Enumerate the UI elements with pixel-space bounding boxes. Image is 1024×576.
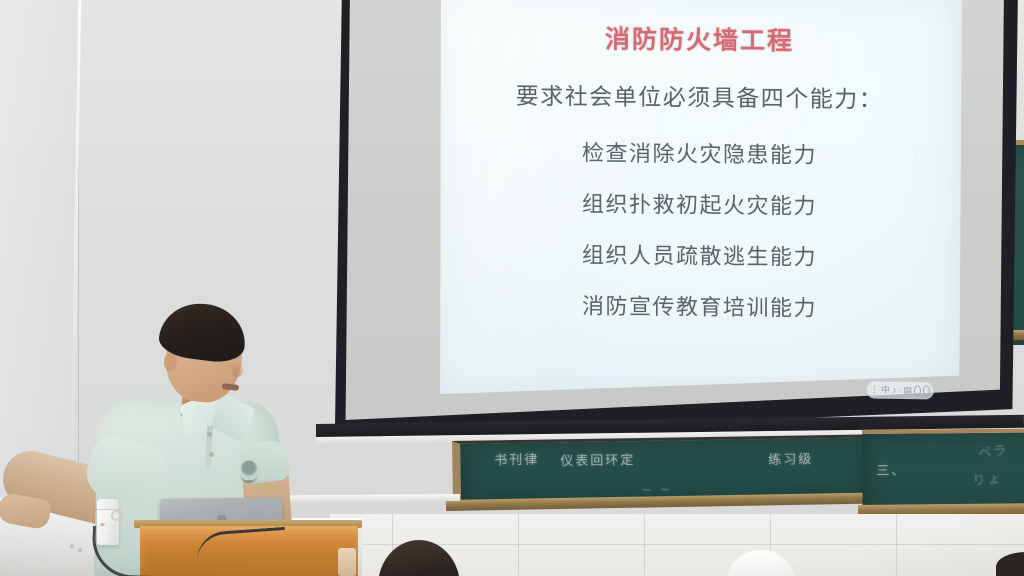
ime-pen-tool-icon[interactable]: ♪ bbox=[892, 385, 897, 394]
ime-toolbar[interactable]: ⋮ 中 ♪ · ▤ bbox=[866, 380, 934, 399]
chalk-note: 仪表回环定 bbox=[560, 449, 635, 469]
chalk-note: 练习级 bbox=[768, 448, 813, 468]
slide-bullet: 消防宣传教育培训能力 bbox=[437, 287, 962, 324]
ime-language-mode-icon[interactable]: 中 bbox=[881, 385, 890, 394]
slide-title: 消防防火墙工程 bbox=[437, 18, 962, 59]
shirt-chest-logo bbox=[240, 460, 258, 483]
foreground-object bbox=[338, 548, 356, 576]
slide-content: 消防防火墙工程 要求社会单位必须具备四个能力： 检查消除火灾隐患能力 组织扑救初… bbox=[437, 0, 962, 399]
shirt-button bbox=[209, 452, 214, 457]
chalk-note: 三、 bbox=[876, 460, 906, 479]
thermos-loop bbox=[111, 510, 122, 521]
ime-handle-icon[interactable]: ⋮ bbox=[870, 385, 879, 394]
thermos-cap bbox=[97, 499, 119, 510]
chalk-smudge: りょ bbox=[972, 468, 1003, 489]
presenter-nose bbox=[232, 362, 243, 377]
ime-soft-keyboard-icon[interactable]: ▤ bbox=[904, 386, 913, 395]
slide-lead-line: 要求社会单位必须具备四个能力： bbox=[437, 76, 962, 115]
chalk-smudge: ペラ bbox=[977, 439, 1009, 461]
shirt-button bbox=[207, 432, 212, 437]
power-cable bbox=[91, 526, 216, 576]
ime-punctuation-toggle-icon[interactable]: · bbox=[899, 385, 902, 394]
ime-settings-icon[interactable] bbox=[923, 385, 930, 396]
slide-bullet: 检查消除火灾隐患能力 bbox=[437, 134, 962, 171]
classroom-scene: ~ ✕ 消防防火墙工程 要求社会单位必须具备四个能力： 检查消除火灾隐患能力 组… bbox=[0, 0, 1024, 576]
slide-bullet: 组织扑救初起火灾能力 bbox=[437, 185, 962, 222]
slide-bullet-list: 检查消除火灾隐患能力 组织扑救初起火灾能力 组织人员疏散逃生能力 消防宣传教育培… bbox=[437, 134, 962, 343]
projection-screen: 消防防火墙工程 要求社会单位必须具备四个能力： 检查消除火灾隐患能力 组织扑救初… bbox=[318, 0, 1018, 438]
slide-bullet: 组织人员疏散逃生能力 bbox=[437, 236, 962, 273]
ime-round-button-icon[interactable] bbox=[914, 385, 921, 396]
chalk-note: 书刊律 bbox=[494, 449, 539, 469]
